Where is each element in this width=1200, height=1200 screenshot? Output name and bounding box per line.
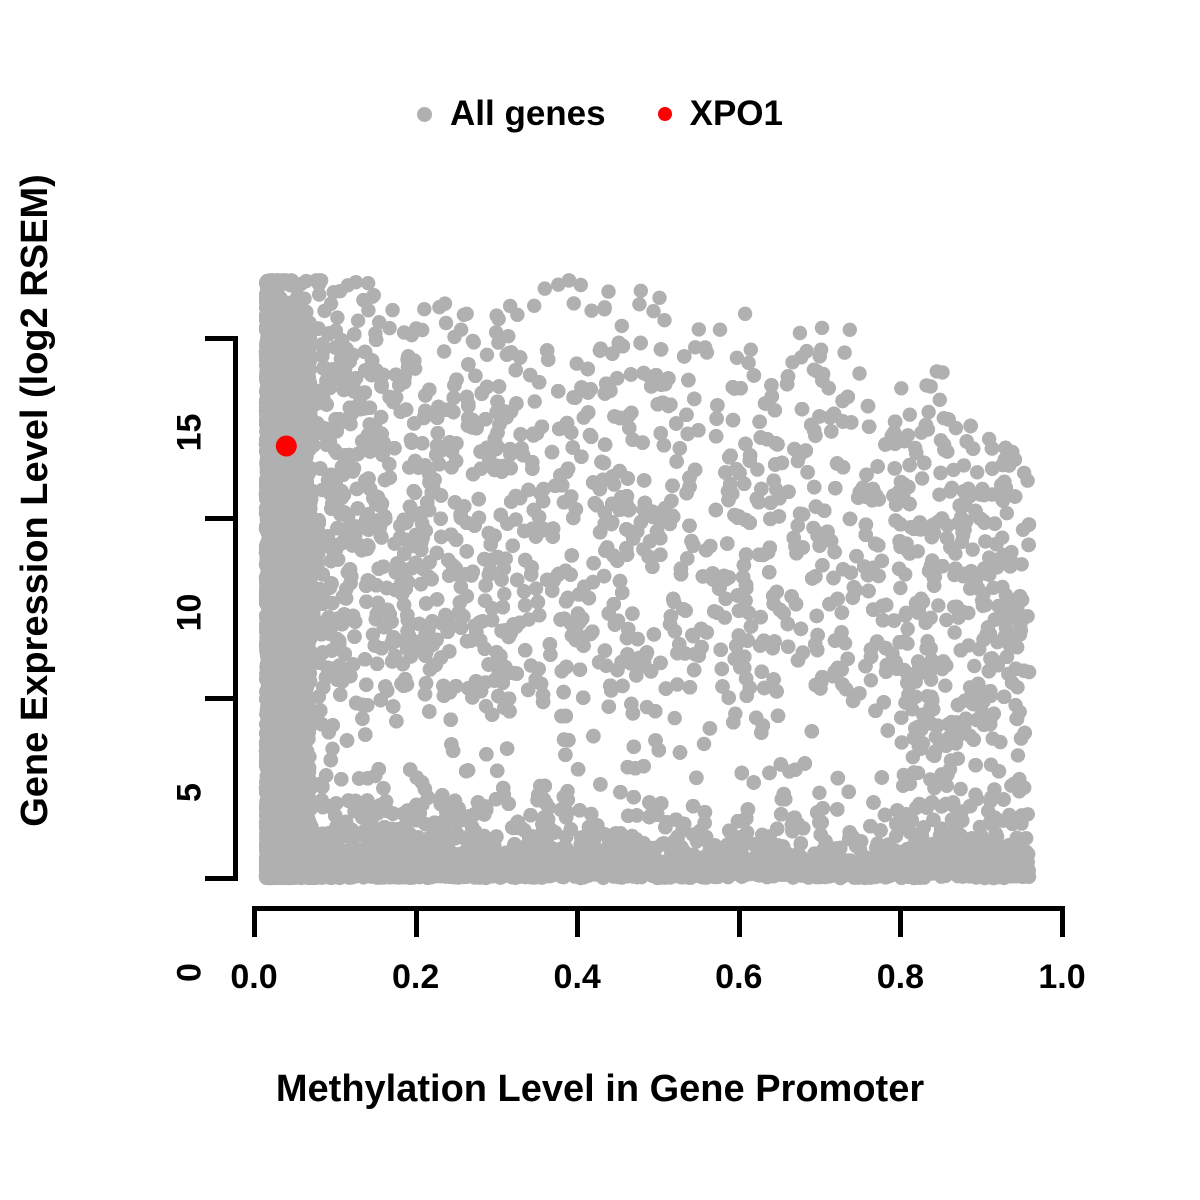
x-axis-line (254, 906, 1065, 911)
y-axis-tick (205, 876, 238, 881)
gray-dot-marker-icon (417, 107, 432, 122)
red-dot-marker-icon (658, 107, 672, 121)
y-axis-title: Gene Expression Level (log2 RSEM) (14, 174, 57, 827)
chart-legend: All genes XPO1 (0, 78, 1200, 150)
y-axis-tick-label: 10 (171, 518, 210, 708)
scatter-plot-figure: All genes XPO1 Gene Expression Level (lo… (0, 0, 1200, 1200)
x-axis-tick (898, 906, 903, 937)
y-axis-line (233, 338, 238, 881)
x-axis-tick-label: 0.4 (554, 958, 601, 997)
all-genes-point-cloud (259, 273, 1036, 885)
plot-area (254, 338, 1062, 878)
x-axis-tick-label: 1.0 (1038, 958, 1085, 997)
legend-item-xpo1: XPO1 (658, 94, 783, 134)
y-axis-tick-label: 0 (171, 878, 210, 1068)
y-axis-tick-label: 15 (171, 338, 210, 528)
x-axis-tick-label: 0.0 (230, 958, 277, 997)
x-axis-tick (252, 906, 257, 937)
x-axis-tick (1060, 906, 1065, 937)
y-axis-tick (205, 516, 238, 521)
x-axis-title: Methylation Level in Gene Promoter (0, 1068, 1200, 1111)
x-axis-tick-label: 0.8 (877, 958, 924, 997)
x-axis-tick (575, 906, 580, 937)
scatter-points-layer (194, 218, 1114, 918)
y-axis-tick (205, 336, 238, 341)
xpo1-highlight-point (276, 436, 297, 457)
x-axis-tick-label: 0.6 (715, 958, 762, 997)
y-axis-tick-label: 5 (171, 698, 210, 888)
y-axis-tick (205, 696, 238, 701)
legend-label-xpo1: XPO1 (690, 94, 783, 134)
x-axis-tick (737, 906, 742, 937)
x-axis-tick (414, 906, 419, 937)
legend-item-all-genes: All genes (417, 94, 606, 134)
legend-label-all-genes: All genes (450, 94, 606, 134)
x-axis-tick-label: 0.2 (392, 958, 439, 997)
y-axis-title-wrapper: Gene Expression Level (log2 RSEM) (0, 0, 70, 1000)
